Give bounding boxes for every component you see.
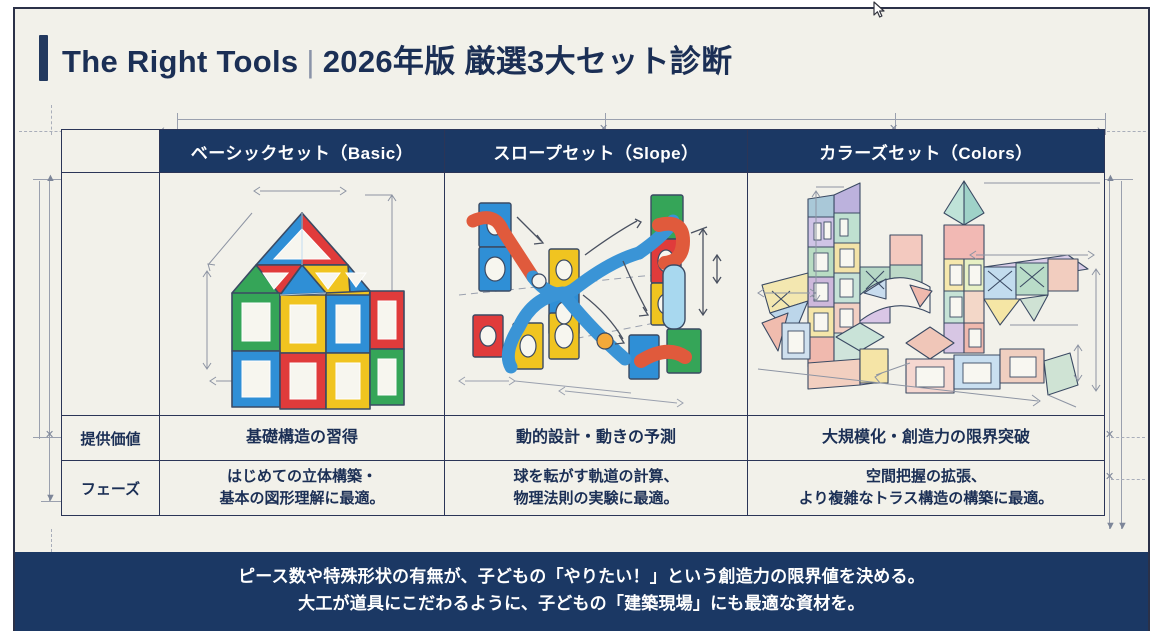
illustration-cell-colors xyxy=(748,173,1105,416)
column-header-colors: カラーズセット（Colors） xyxy=(748,130,1105,173)
comparison-table: ベーシックセット（Basic） スロープセット（Slope） カラーズセット（C… xyxy=(61,129,1105,516)
row-label-value: 提供価値 xyxy=(62,416,160,461)
header-empty-cell xyxy=(62,130,160,173)
phase-colors-line2: より複雑なトラス構造の構築に最適。 xyxy=(748,488,1104,510)
value-cell-colors: 大規模化・創造力の限界突破 xyxy=(748,416,1105,461)
phase-basic-line2: 基本の図形理解に最適。 xyxy=(160,488,444,510)
phase-cell-colors: 空間把握の拡張、 より複雑なトラス構造の構築に最適。 xyxy=(748,461,1105,516)
table-illustration-row xyxy=(62,173,1105,416)
pastel-castle-icon xyxy=(748,173,1105,415)
phase-cell-slope: 球を転がす軌道の計算、 物理法則の実験に最適。 xyxy=(445,461,748,516)
column-header-slope: スロープセット（Slope） xyxy=(445,130,748,173)
table-row-value: 提供価値 基礎構造の習得 動的設計・動きの予測 大規模化・創造力の限界突破 xyxy=(62,416,1105,461)
value-cell-basic: 基礎構造の習得 xyxy=(160,416,445,461)
page-title: The Right Tools|2026年版 厳選3大セット診断 xyxy=(62,36,732,81)
phase-basic-line1: はじめての立体構築・ xyxy=(160,466,444,488)
phase-colors-line1: 空間把握の拡張、 xyxy=(748,466,1104,488)
column-header-basic: ベーシックセット（Basic） xyxy=(160,130,445,173)
phase-slope-line2: 物理法則の実験に最適。 xyxy=(445,488,747,510)
title-english: The Right Tools xyxy=(62,44,298,79)
slide-screen: The Right Tools|2026年版 厳選3大セット診断 ‹ ✕ ✕ › xyxy=(0,0,1163,631)
marble-run-slope-icon xyxy=(445,173,748,415)
table-header-row: ベーシックセット（Basic） スロープセット（Slope） カラーズセット（C… xyxy=(62,130,1105,173)
illustration-row-label-empty xyxy=(62,173,160,416)
table-row-phase: フェーズ はじめての立体構築・ 基本の図形理解に最適。 球を転がす軌道の計算、 … xyxy=(62,461,1105,516)
slide-title: The Right Tools|2026年版 厳選3大セット診断 xyxy=(39,35,732,81)
footer-line-2: 大工が道具にこだわるように、子どもの「建築現場」にも最適な資材を。 xyxy=(15,591,1148,617)
phase-slope-line1: 球を転がす軌道の計算、 xyxy=(445,466,747,488)
title-japanese: 2026年版 厳選3大セット診断 xyxy=(323,44,733,79)
mouse-cursor-icon xyxy=(873,1,886,19)
illustration-cell-basic xyxy=(160,173,445,416)
title-separator: | xyxy=(306,44,314,79)
slide-frame: The Right Tools|2026年版 厳選3大セット診断 ‹ ✕ ✕ › xyxy=(13,7,1150,631)
phase-cell-basic: はじめての立体構築・ 基本の図形理解に最適。 xyxy=(160,461,445,516)
magnetic-tile-house-icon xyxy=(160,173,445,415)
footer-line-1: ピース数や特殊形状の有無が、子どもの「やりたい！」という創造力の限界値を決める。 xyxy=(15,564,1148,590)
title-accent-bar xyxy=(39,35,48,81)
row-label-phase: フェーズ xyxy=(62,461,160,516)
footer-banner: ピース数や特殊形状の有無が、子どもの「やりたい！」という創造力の限界値を決める。… xyxy=(15,552,1148,631)
illustration-cell-slope xyxy=(445,173,748,416)
value-cell-slope: 動的設計・動きの予測 xyxy=(445,416,748,461)
